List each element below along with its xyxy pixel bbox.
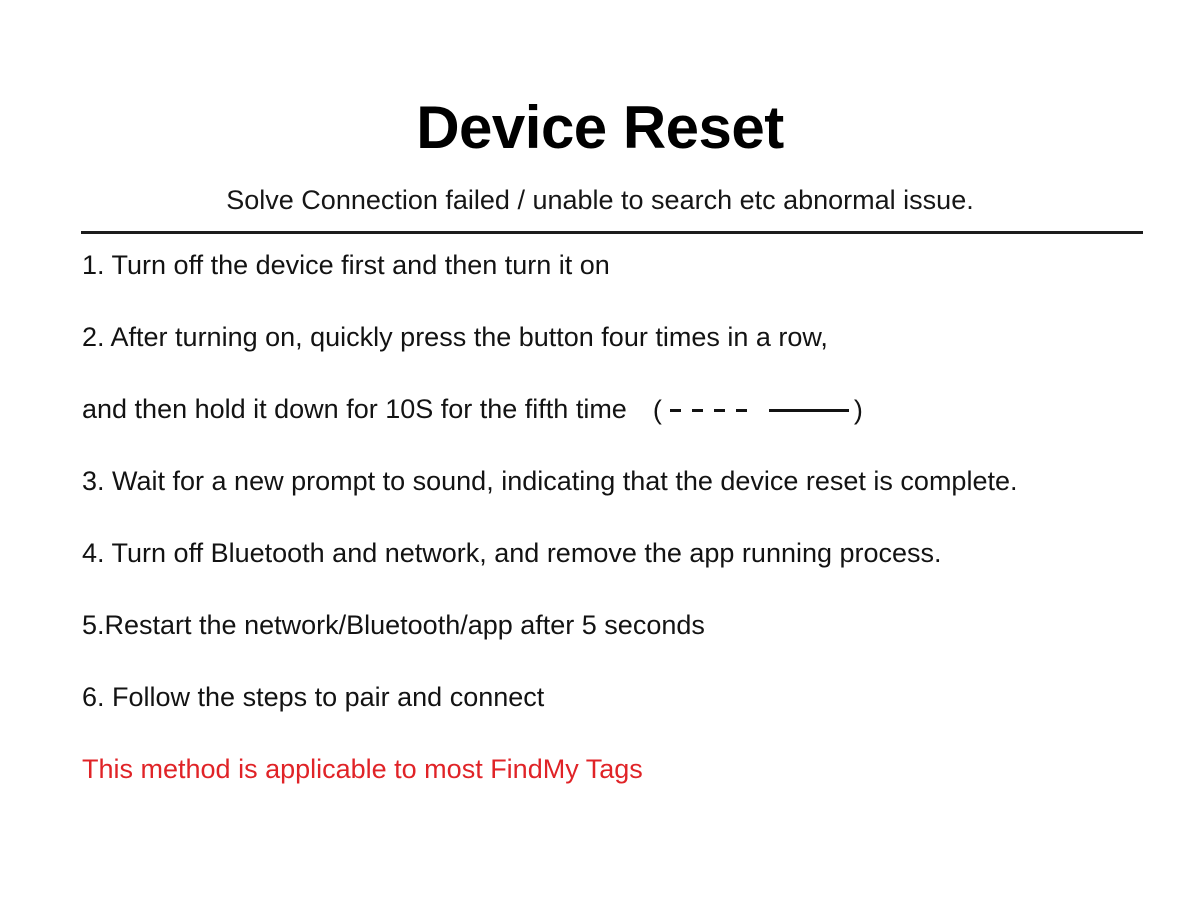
- step-line: 5.Restart the network/Bluetooth/app afte…: [82, 612, 1152, 684]
- step-text: and then hold it down for 10S for the fi…: [82, 396, 627, 423]
- step-text: This method is applicable to most FindMy…: [82, 756, 643, 783]
- short-press-dash-icon: [692, 409, 703, 412]
- header-divider: [81, 231, 1143, 234]
- step-text: 3. Wait for a new prompt to sound, indic…: [82, 468, 1017, 495]
- left-paren: (: [653, 397, 662, 424]
- step-text: 4. Turn off Bluetooth and network, and r…: [82, 540, 942, 567]
- long-press-dash-icon: [769, 409, 849, 412]
- page-subtitle: Solve Connection failed / unable to sear…: [0, 186, 1200, 216]
- step-line: and then hold it down for 10S for the fi…: [82, 396, 1152, 468]
- applicability-note: This method is applicable to most FindMy…: [82, 756, 1152, 828]
- steps-list: 1. Turn off the device first and then tu…: [82, 252, 1152, 828]
- step-line: 4. Turn off Bluetooth and network, and r…: [82, 540, 1152, 612]
- step-text: 5.Restart the network/Bluetooth/app afte…: [82, 612, 705, 639]
- page-title: Device Reset: [0, 98, 1200, 158]
- short-press-dash-icon: [714, 409, 725, 412]
- step-text: 2. After turning on, quickly press the b…: [82, 324, 828, 351]
- press-pattern-notation: (): [653, 397, 863, 424]
- short-press-dash-icon: [736, 409, 747, 412]
- step-text: 6. Follow the steps to pair and connect: [82, 684, 544, 711]
- step-text: 1. Turn off the device first and then tu…: [82, 252, 610, 279]
- step-line: 3. Wait for a new prompt to sound, indic…: [82, 468, 1152, 540]
- slide-page: Device Reset Solve Connection failed / u…: [0, 0, 1200, 900]
- short-press-dash-icon: [670, 409, 681, 412]
- step-line: 6. Follow the steps to pair and connect: [82, 684, 1152, 756]
- right-paren: ): [854, 397, 863, 424]
- dash-group: [670, 409, 849, 412]
- step-line: 1. Turn off the device first and then tu…: [82, 252, 1152, 324]
- step-line: 2. After turning on, quickly press the b…: [82, 324, 1152, 396]
